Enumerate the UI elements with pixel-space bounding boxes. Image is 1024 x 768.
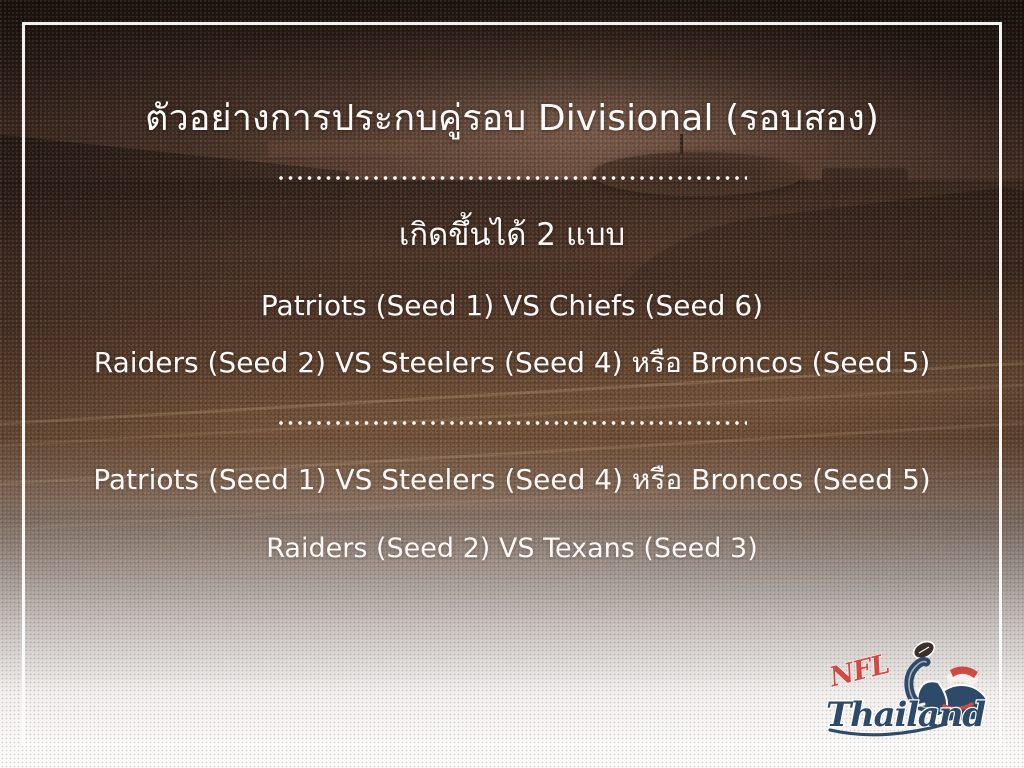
matchup-line: Raiders (Seed 2) VS Steelers (Seed 4) หร… [0, 345, 1024, 381]
matchup-line: Raiders (Seed 2) VS Texans (Seed 3) [0, 532, 1024, 567]
svg-text:NFL: NFL [826, 649, 893, 694]
svg-text:Thailand: Thailand [826, 695, 986, 735]
slide-title: ตัวอย่างการประกบคู่รอบ Divisional (รอบสอ… [0, 96, 1024, 142]
logo-thailand-wordmark: Thailand [826, 695, 986, 735]
matchup-line: Patriots (Seed 1) VS Chiefs (Seed 6) [0, 288, 1024, 324]
nfl-thailand-logo: NFL Thailand [820, 634, 988, 746]
slide-subtitle: เกิดขึ้นได้ 2 แบบ [0, 215, 1024, 255]
dotted-divider-middle [279, 421, 747, 425]
logo-nfl-wordmark: NFL [826, 649, 893, 694]
presentation-slide: ตัวอย่างการประกบคู่รอบ Divisional (รอบสอ… [0, 0, 1024, 768]
matchup-line: Patriots (Seed 1) VS Steelers (Seed 4) ห… [0, 462, 1024, 498]
dotted-divider-top [279, 176, 747, 180]
